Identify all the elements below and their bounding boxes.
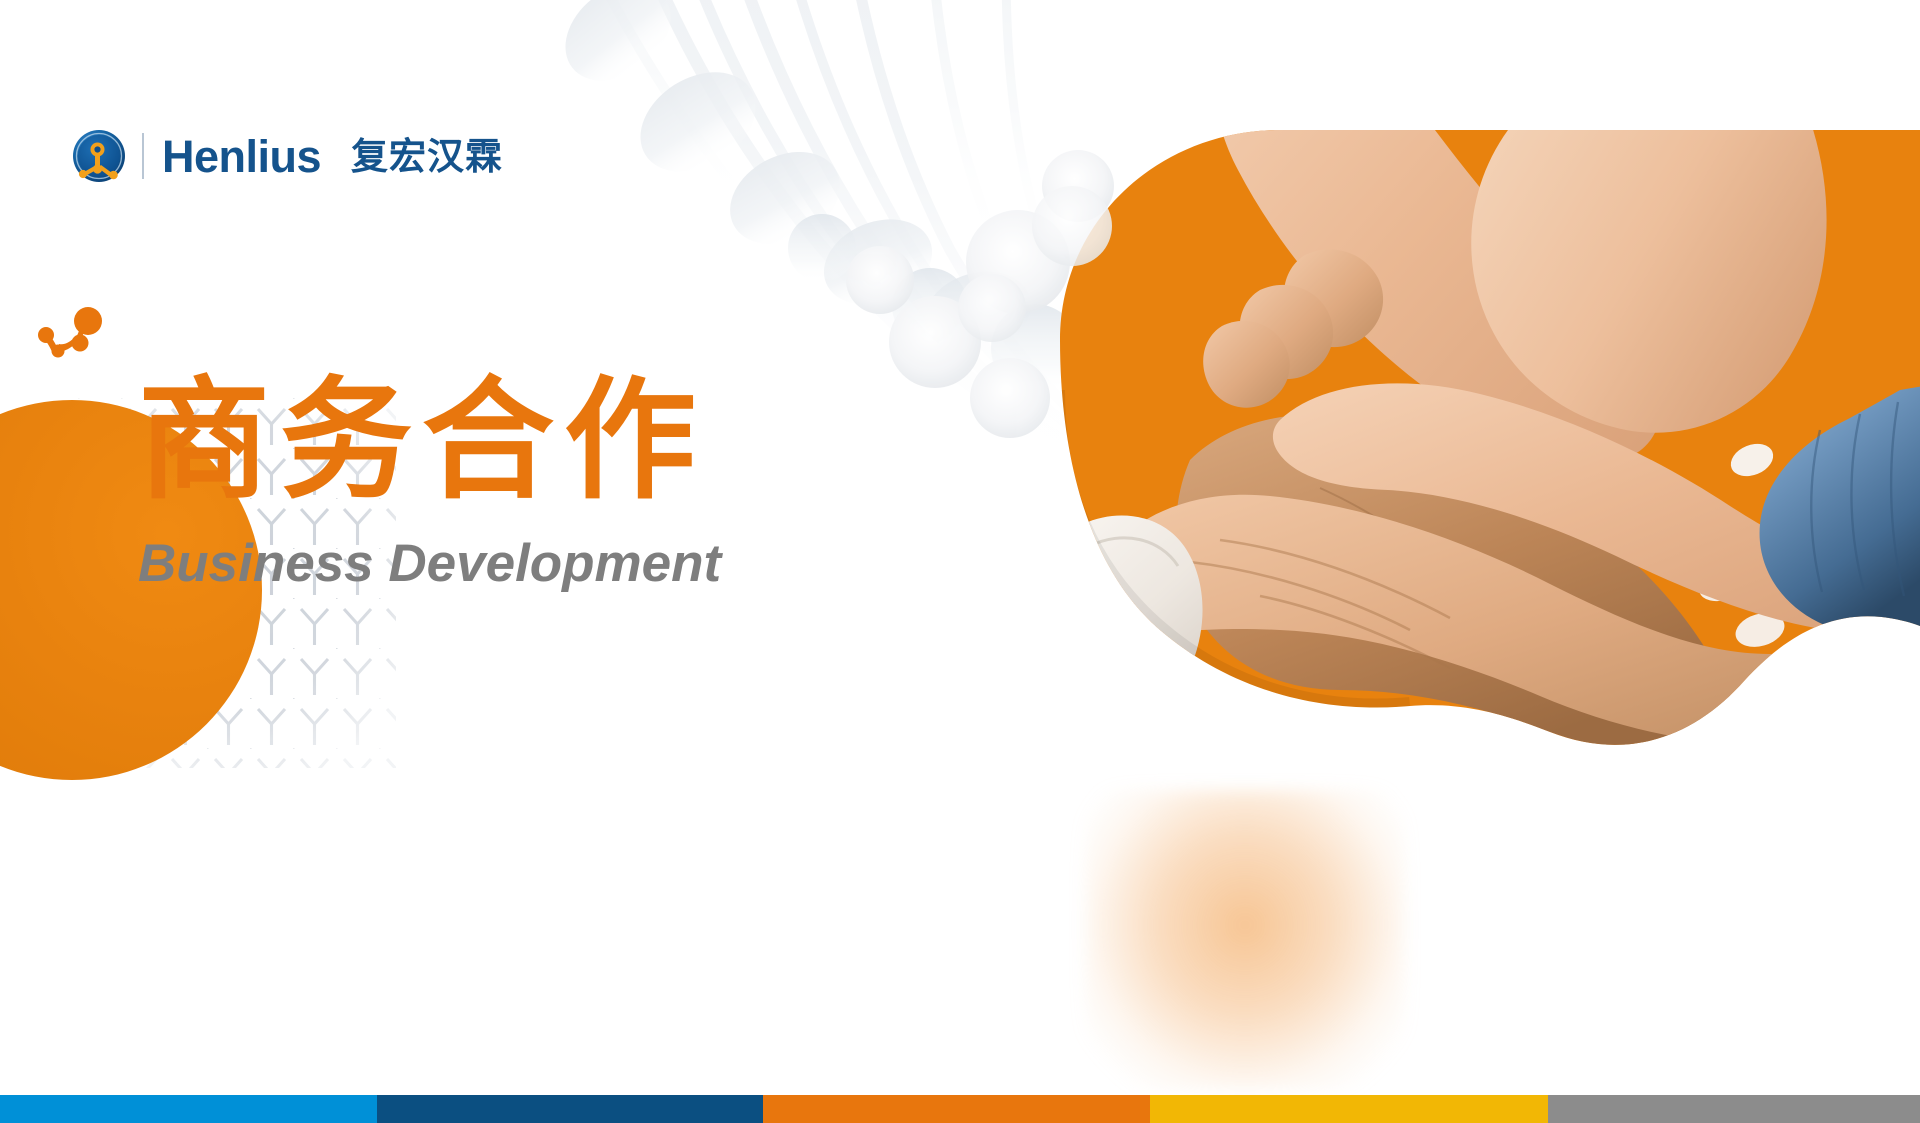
henlius-logo[interactable]: Henlius 复宏汉霖 [72, 125, 503, 187]
bar-segment-light-blue [0, 1095, 377, 1123]
orange-molecule-icon [30, 305, 112, 367]
bar-segment-yellow [1150, 1095, 1548, 1123]
stacked-hands-teamwork-photo [760, 0, 1920, 890]
page-subtitle: Business Development [138, 533, 721, 594]
logo-wordmark: Henlius [162, 134, 321, 179]
henlius-circle-molecule-icon [72, 129, 126, 183]
presentation-slide: Henlius 复宏汉霖 商务合作 Business Development [0, 0, 1920, 1123]
bar-segment-dark-blue [377, 1095, 763, 1123]
bar-segment-orange [763, 1095, 1150, 1123]
logo-divider [142, 133, 144, 179]
bar-segment-gray [1548, 1095, 1920, 1123]
title-block: 商务合作 Business Development [138, 375, 721, 594]
page-title: 商务合作 [138, 375, 721, 507]
logo-chinese-name: 复宏汉霖 [351, 138, 503, 175]
bottom-color-bar [0, 1095, 1920, 1123]
